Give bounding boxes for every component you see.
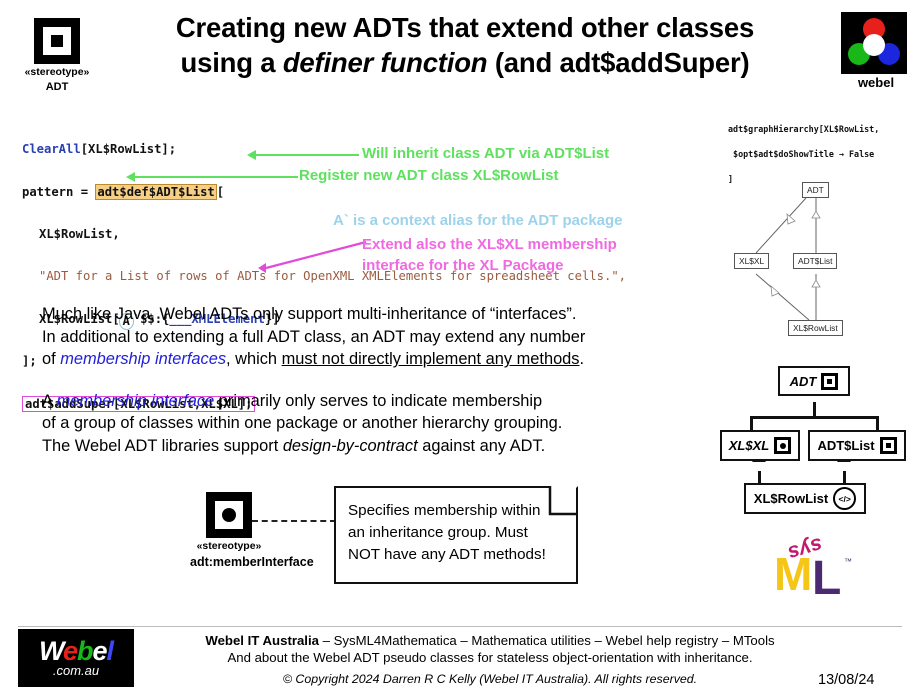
p1-line-2: In additional to extending a full ADT cl… bbox=[42, 328, 585, 346]
adt-stereotype-badge: «stereotype» ADT bbox=[18, 18, 96, 93]
title-line-2-italic: definer function bbox=[283, 47, 488, 78]
stereotype-name-adt: ADT bbox=[18, 81, 96, 93]
member-interface-name: adt:memberInterface bbox=[190, 555, 268, 569]
uml-label-xlrowlist: XL$RowList bbox=[754, 491, 828, 506]
title-line-2-prefix: using a bbox=[181, 47, 283, 78]
p1-underline-clause: must not directly implement any methods bbox=[282, 350, 580, 368]
webel-domain: .com.au bbox=[53, 664, 99, 678]
uml-label-adtlist: ADT$List bbox=[817, 438, 874, 453]
annotation-arrow-2 bbox=[135, 176, 298, 178]
p2-line-1b: primarily only serves to indicate member… bbox=[214, 392, 542, 410]
p2-line-3a: The Webel ADT libraries support bbox=[42, 437, 283, 455]
p1-line-1: Much like Java, Webel ADTs only support … bbox=[42, 305, 576, 323]
code-fn-clearall: ClearAll bbox=[22, 142, 81, 156]
p1-line-3c: . bbox=[580, 350, 585, 368]
annotation-green-1: Will inherit class ADT via ADT$List bbox=[362, 145, 609, 162]
paragraph-1: Much like Java, Webel ADTs only support … bbox=[42, 303, 707, 371]
note-box: Specifies membership within an inheritan… bbox=[334, 486, 578, 584]
p2-line-2: of a group of classes within one package… bbox=[42, 414, 562, 432]
code-line-2-bracket: [ bbox=[217, 185, 224, 199]
code-line-2: pattern = adt$def$ADT$List[ bbox=[22, 182, 712, 203]
code-highlight-definer: adt$def$ADT$List bbox=[95, 184, 216, 200]
p2-line-1a: A bbox=[42, 392, 57, 410]
p2-emphasis-design-by-contract: design-by-contract bbox=[283, 437, 418, 455]
graph-code-line-1: adt$graphHierarchy[XL$RowList, bbox=[728, 123, 918, 136]
footer-line-2: And about the Webel ADT pseudo classes f… bbox=[140, 649, 840, 666]
webel-logo-label: webel bbox=[841, 75, 911, 90]
uml-box-adtlist: ADT$List bbox=[808, 430, 906, 461]
code-line-1-rest: [XL$RowList]; bbox=[81, 142, 176, 156]
footer-date: 13/08/24 bbox=[818, 672, 874, 688]
annotation-pink-1: Extend also the XL$XL membership bbox=[362, 234, 617, 255]
square-in-square-icon bbox=[880, 437, 897, 454]
uml-label-adt: ADT bbox=[790, 374, 817, 389]
svg-text:™: ™ bbox=[844, 557, 852, 566]
code-line-2-prefix: pattern = bbox=[22, 185, 95, 199]
member-interface-guillemet-label: «stereotype» bbox=[190, 540, 268, 552]
note-fold-lines bbox=[548, 484, 582, 518]
p1-line-3b: , which bbox=[226, 350, 282, 368]
title-line-2-suffix: (and adt$addSuper) bbox=[487, 47, 749, 78]
graph-node-xlxl: XL$XL bbox=[734, 253, 769, 269]
p1-emphasis-membership-interfaces: membership interfaces bbox=[60, 350, 226, 368]
square-in-square-icon bbox=[821, 373, 838, 390]
p1-line-3a: of bbox=[42, 350, 60, 368]
page-title: Creating new ADTs that extend other clas… bbox=[95, 10, 835, 80]
stereotype-guillemet-label: «stereotype» bbox=[18, 66, 96, 78]
annotation-pink-block: Extend also the XL$XL membership interfa… bbox=[362, 234, 617, 276]
uml-box-xlrowlist: XL$RowList </> bbox=[744, 483, 866, 514]
svg-text:M: M bbox=[774, 548, 812, 600]
webel-logo-top: webel bbox=[841, 12, 911, 90]
webel-logo-footer: Webel .com.au bbox=[18, 629, 134, 687]
circle-in-square-icon bbox=[774, 437, 791, 454]
webel-rgb-circles-icon bbox=[841, 12, 907, 74]
sysml-logo: sys M L ™ bbox=[766, 524, 862, 612]
footer-text: Webel IT Australia – SysML4Mathematica –… bbox=[140, 632, 840, 686]
note-connector-dashed-line bbox=[252, 520, 336, 522]
circle-in-square-icon bbox=[206, 492, 252, 538]
svg-text:L: L bbox=[812, 552, 841, 605]
annotation-green-2: Register new ADT class XL$RowList bbox=[299, 167, 559, 184]
annotation-blue-1: A` is a context alias for the ADT packag… bbox=[333, 212, 623, 229]
p2-line-3b: against any ADT. bbox=[418, 437, 546, 455]
code-circle-icon: </> bbox=[833, 487, 856, 510]
webel-wordmark: Webel bbox=[39, 638, 113, 665]
footer-line-1: Webel IT Australia – SysML4Mathematica –… bbox=[140, 632, 840, 649]
uml-triangle-left bbox=[752, 462, 766, 471]
annotation-arrowhead-1 bbox=[247, 150, 256, 160]
note-line-1: Specifies membership within bbox=[348, 500, 566, 522]
uml-triangle-right bbox=[837, 462, 851, 471]
hierarchy-graph: ADT XL$XL ADT$List XL$RowList bbox=[714, 168, 914, 344]
footer-line-1-rest: – SysML4Mathematica – Mathematica utilit… bbox=[319, 633, 775, 648]
uml-label-xlxl: XL$XL bbox=[729, 438, 769, 453]
graph-node-xlrowlist: XL$RowList bbox=[788, 320, 843, 336]
uml-box-xlxl: XL$XL bbox=[720, 430, 800, 461]
uml-line-horiz bbox=[750, 416, 878, 419]
annotation-pink-2: interface for the XL Package bbox=[362, 255, 617, 276]
footer-company-name: Webel IT Australia bbox=[205, 633, 319, 648]
footer-copyright: © Copyright 2024 Darren R C Kelly (Webel… bbox=[140, 672, 840, 686]
graph-code-line-2: $opt$adt$doShowTitle → False bbox=[728, 148, 918, 161]
annotation-arrowhead-2 bbox=[126, 172, 135, 182]
graph-node-adtlist: ADT$List bbox=[793, 253, 837, 269]
square-in-square-icon bbox=[34, 18, 80, 64]
uml-box-adt: ADT bbox=[778, 366, 850, 396]
member-interface-stereotype-badge: «stereotype» adt:memberInterface bbox=[190, 492, 268, 569]
uml-inheritance-diagram: ADT XL$XL ADT$List XL$RowList </> bbox=[718, 366, 914, 506]
graph-node-adt: ADT bbox=[802, 182, 829, 198]
body-text: Much like Java, Webel ADTs only support … bbox=[42, 303, 707, 477]
title-line-1: Creating new ADTs that extend other clas… bbox=[176, 12, 754, 43]
note-line-3: NOT have any ADT methods! bbox=[348, 544, 566, 566]
p2-emphasis-membership-interface: membership interface bbox=[57, 392, 215, 410]
annotation-arrowhead-3 bbox=[258, 263, 266, 273]
footer-divider bbox=[18, 626, 902, 627]
paragraph-2: A membership interface primarily only se… bbox=[42, 390, 707, 458]
annotation-arrow-1 bbox=[256, 154, 359, 156]
note-line-2: an inheritance group. Must bbox=[348, 522, 566, 544]
